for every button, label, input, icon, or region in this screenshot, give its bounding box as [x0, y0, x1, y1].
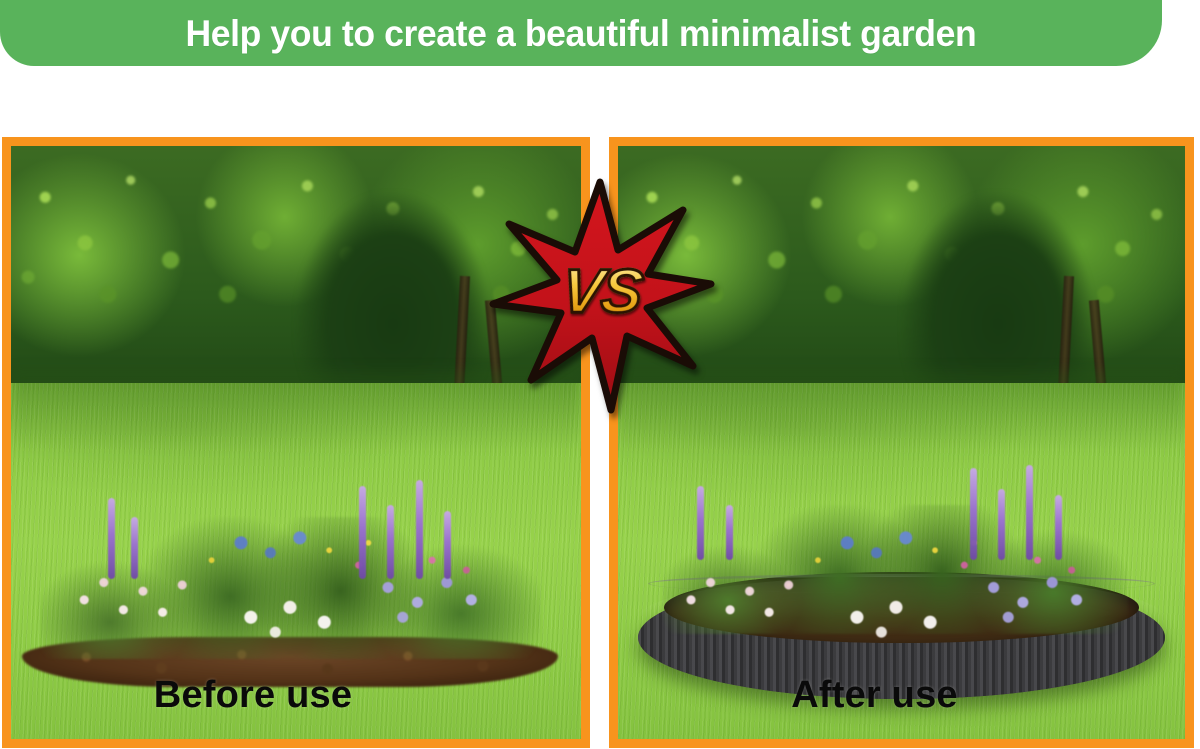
headline-text: Help you to create a beautiful minimalis… [186, 15, 977, 52]
headline-banner: Help you to create a beautiful minimalis… [0, 0, 1162, 66]
caption-before: Before use [11, 674, 581, 717]
after-photo [618, 146, 1185, 739]
panel-before: Before use [2, 137, 590, 748]
before-photo [11, 146, 581, 739]
panel-after: After use [609, 137, 1194, 748]
before-after-comparison: Before use [0, 137, 1200, 749]
caption-after: After use [618, 674, 1185, 717]
